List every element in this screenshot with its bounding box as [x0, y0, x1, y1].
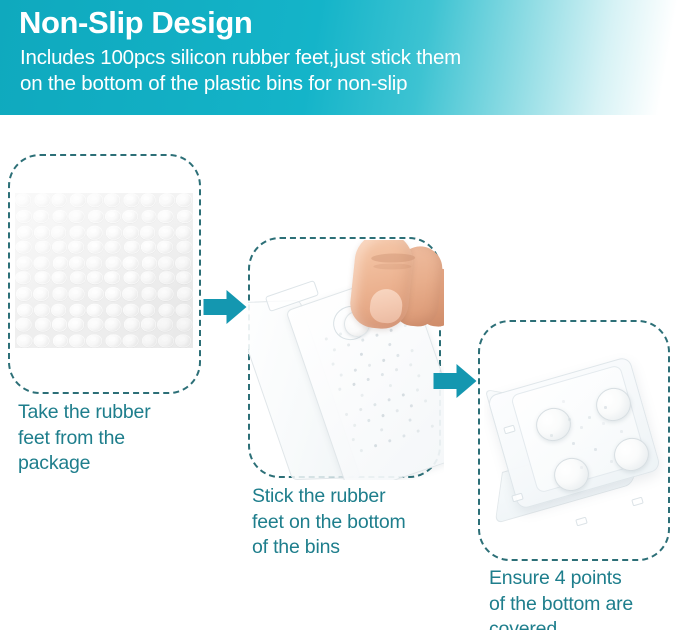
rubber-foot	[158, 334, 174, 348]
rubber-foot	[34, 271, 50, 285]
bin-with-four-feet-image	[484, 330, 670, 556]
bin-texture-dot	[360, 449, 364, 453]
rubber-foot	[105, 334, 121, 348]
rubber-foot	[177, 287, 193, 301]
rubber-foot	[140, 271, 156, 285]
rubber-foot	[176, 226, 192, 240]
bin-texture-dot	[402, 434, 406, 438]
bin-texture-dot	[373, 403, 377, 407]
bin-surface-speck	[602, 422, 605, 425]
bin-texture-dot	[366, 378, 370, 382]
rubber-foot	[141, 210, 157, 224]
rubber-foot	[158, 210, 174, 224]
rubber-foot	[123, 271, 139, 285]
rubber-foot	[122, 334, 138, 348]
rubber-foot	[177, 240, 193, 254]
bin-texture-dot	[352, 438, 356, 442]
bin-surface-speck	[594, 448, 597, 451]
rubber-foot	[141, 318, 157, 332]
rubber-foot	[33, 210, 49, 224]
rubber-foot	[16, 210, 32, 224]
finger-crease-upper	[371, 253, 415, 263]
bin-texture-dot	[360, 393, 364, 397]
rubber-foot	[140, 226, 156, 240]
bin-texture-dot	[374, 444, 378, 448]
rubber-foot	[140, 193, 156, 207]
arrow-right-icon	[432, 362, 478, 400]
rubber-foot	[16, 318, 32, 332]
page-title: Non-Slip Design	[19, 3, 252, 43]
bin-surface-speck	[610, 460, 613, 463]
rubber-foot	[141, 334, 157, 348]
rubber-foot	[69, 334, 85, 348]
rubber-foot	[106, 303, 122, 317]
rubber-foot	[122, 256, 138, 270]
rubber-foot	[51, 303, 67, 317]
bin-texture-dot	[431, 424, 435, 428]
rubber-foot	[15, 271, 31, 285]
step-3-caption-line-2: of the bottom are	[489, 592, 679, 618]
rubber-foot	[70, 271, 86, 285]
rubber-foot	[52, 240, 68, 254]
rubber-foot	[105, 287, 121, 301]
rubber-foot	[86, 256, 102, 270]
bin-texture-dot	[333, 348, 337, 352]
bin-texture-dot	[353, 423, 357, 427]
step-3-caption-line-1: Ensure 4 points	[489, 566, 679, 592]
stick-foot-on-bin-image	[248, 240, 444, 480]
rubber-foot	[141, 287, 157, 301]
bin-texture-dot	[381, 414, 385, 418]
rubber-foot	[51, 226, 67, 240]
rubber-foot	[124, 240, 140, 254]
rubber-foot	[176, 193, 192, 207]
rubber-foot	[70, 226, 86, 240]
step-1-caption: Take the rubber feet from the package	[18, 400, 218, 477]
bin-corner-tab	[631, 497, 644, 507]
step-2-caption-line-1: Stick the rubber	[252, 484, 467, 510]
bin-texture-dot	[325, 337, 329, 341]
rubber-foot	[51, 271, 67, 285]
header-subtitle-line-2: on the bottom of the plastic bins for no…	[20, 71, 640, 97]
rubber-foot	[87, 303, 103, 317]
bin-texture-dot	[347, 343, 351, 347]
rubber-feet-grid	[15, 193, 193, 348]
rubber-foot	[52, 256, 68, 270]
bin-surface-speck	[604, 406, 607, 409]
rubber-foot	[176, 271, 192, 285]
rubber-foot	[16, 256, 32, 270]
rubber-foot	[105, 240, 121, 254]
rubber-foot	[35, 240, 51, 254]
rubber-foot	[15, 193, 31, 207]
rubber-foot	[33, 334, 49, 348]
rubber-foot	[177, 318, 193, 332]
rubber-foot	[122, 287, 138, 301]
rubber-foot	[70, 303, 86, 317]
rubber-foot	[158, 256, 174, 270]
hand-finger-illustration	[339, 240, 444, 349]
rubber-foot	[52, 210, 68, 224]
step-2-caption: Stick the rubber feet on the bottom of t…	[252, 484, 467, 561]
rubber-foot	[68, 240, 84, 254]
header-subtitle-line-1: Includes 100pcs silicon rubber feet,just…	[20, 45, 640, 71]
rubber-foot	[88, 318, 104, 332]
rubber-foot	[34, 193, 50, 207]
bin-texture-dot	[345, 412, 349, 416]
rubber-foot	[141, 256, 157, 270]
rubber-foot	[34, 226, 50, 240]
bin-texture-dot	[331, 362, 335, 366]
rubber-foot	[88, 210, 104, 224]
rubber-foot	[70, 193, 86, 207]
fingertip-pad	[368, 287, 403, 324]
rubber-foot	[69, 256, 85, 270]
step-2-caption-line-3: of the bins	[252, 535, 467, 561]
bin-texture-dot	[424, 399, 428, 403]
bin-surface-speck	[572, 442, 575, 445]
rubber-foot	[159, 303, 175, 317]
rubber-foot	[175, 334, 191, 348]
bin-texture-dot	[382, 358, 386, 362]
rubber-foot	[105, 318, 121, 332]
bin-texture-dot	[352, 382, 356, 386]
rubber-foot	[177, 210, 193, 224]
rubber-foot	[157, 240, 173, 254]
rubber-foot	[159, 271, 175, 285]
rubber-foot	[87, 271, 103, 285]
step-1-caption-line-3: package	[18, 451, 218, 477]
header-banner: Non-Slip Design Includes 100pcs silicon …	[0, 0, 679, 115]
rubber-foot	[159, 193, 175, 207]
rubber-foot	[141, 240, 157, 254]
rubber-foot	[106, 226, 122, 240]
bin-texture-dot	[410, 349, 414, 353]
bin-surface-speck	[620, 430, 623, 433]
rubber-foot	[33, 287, 49, 301]
rubber-foot	[69, 287, 85, 301]
rubber-foot	[68, 318, 84, 332]
rubber-foot	[157, 318, 173, 332]
infographic-page: Non-Slip Design Includes 100pcs silicon …	[0, 0, 679, 630]
rubber-foot	[52, 287, 68, 301]
rubber-foot	[88, 287, 104, 301]
bin-texture-dot	[409, 363, 413, 367]
bin-texture-dot	[416, 388, 420, 392]
bin-surface-speck	[580, 426, 583, 429]
rubber-foot	[123, 226, 139, 240]
bin-texture-dot	[389, 384, 393, 388]
bin-texture-dot	[395, 409, 399, 413]
bin-corner-tab	[575, 517, 588, 527]
step-1-caption-line-1: Take the rubber	[18, 400, 218, 426]
bin-texture-dot	[339, 373, 343, 377]
bin-texture-dot	[396, 354, 400, 358]
rubber-foot	[17, 226, 33, 240]
rubber-foot	[159, 226, 175, 240]
rubber-foot	[176, 303, 192, 317]
bin-texture-dot	[359, 408, 363, 412]
bin-texture-dot	[410, 404, 414, 408]
rubber-foot	[123, 303, 139, 317]
bin-texture-dot	[380, 428, 384, 432]
bin-texture-dot	[338, 387, 342, 391]
rubber-foot	[104, 271, 120, 285]
step-3-caption: Ensure 4 points of the bottom are covere…	[489, 566, 679, 630]
rubber-foot	[16, 240, 32, 254]
rubber-foot	[33, 256, 49, 270]
arrow-right-icon	[202, 288, 248, 326]
bin-surface-speck	[580, 466, 583, 469]
bin-surface-speck	[588, 416, 591, 419]
finger-crease-lower	[373, 263, 411, 269]
rubber-foot	[123, 193, 139, 207]
rubber-foot	[105, 256, 121, 270]
rubber-foot	[158, 287, 174, 301]
rubber-foot	[88, 240, 104, 254]
bin-texture-dot	[367, 419, 371, 423]
rubber-foot	[35, 318, 51, 332]
rubber-foot	[122, 210, 138, 224]
step-2-caption-line-2: feet on the bottom	[252, 510, 467, 536]
rubber-foot	[87, 193, 103, 207]
rubber-foot	[175, 256, 191, 270]
header-subtitle: Includes 100pcs silicon rubber feet,just…	[20, 45, 640, 97]
step-3-caption-line-3: covered	[489, 617, 679, 630]
step-1-caption-line-2: feet from the	[18, 426, 218, 452]
bin-surface-speck	[550, 434, 553, 437]
bin-texture-dot	[381, 373, 385, 377]
rubber-feet-sheet-image	[15, 193, 193, 348]
rubber-foot	[104, 193, 120, 207]
rubber-foot	[124, 318, 140, 332]
bin-texture-dot	[368, 363, 372, 367]
rubber-foot	[52, 318, 68, 332]
bin-texture-dot	[401, 393, 405, 397]
rubber-foot	[17, 303, 33, 317]
rubber-foot	[16, 334, 32, 348]
rubber-foot	[51, 193, 67, 207]
rubber-foot	[34, 303, 50, 317]
bin-texture-dot	[395, 368, 399, 372]
rubber-foot	[69, 210, 85, 224]
rubber-foot	[16, 287, 32, 301]
bin-surface-speck	[562, 400, 565, 403]
bin-texture-dot	[417, 374, 421, 378]
rubber-foot	[105, 210, 121, 224]
bin-texture-dot	[360, 352, 364, 356]
bin-texture-dot	[408, 418, 412, 422]
rubber-foot	[87, 226, 103, 240]
rubber-foot	[52, 334, 68, 348]
bin-surface-speck	[568, 418, 571, 421]
bin-texture-dot	[388, 439, 392, 443]
rubber-foot	[86, 334, 102, 348]
bin-texture-dot	[354, 368, 358, 372]
bin-texture-dot	[416, 429, 420, 433]
bin-texture-dot	[387, 398, 391, 402]
rubber-foot	[140, 303, 156, 317]
